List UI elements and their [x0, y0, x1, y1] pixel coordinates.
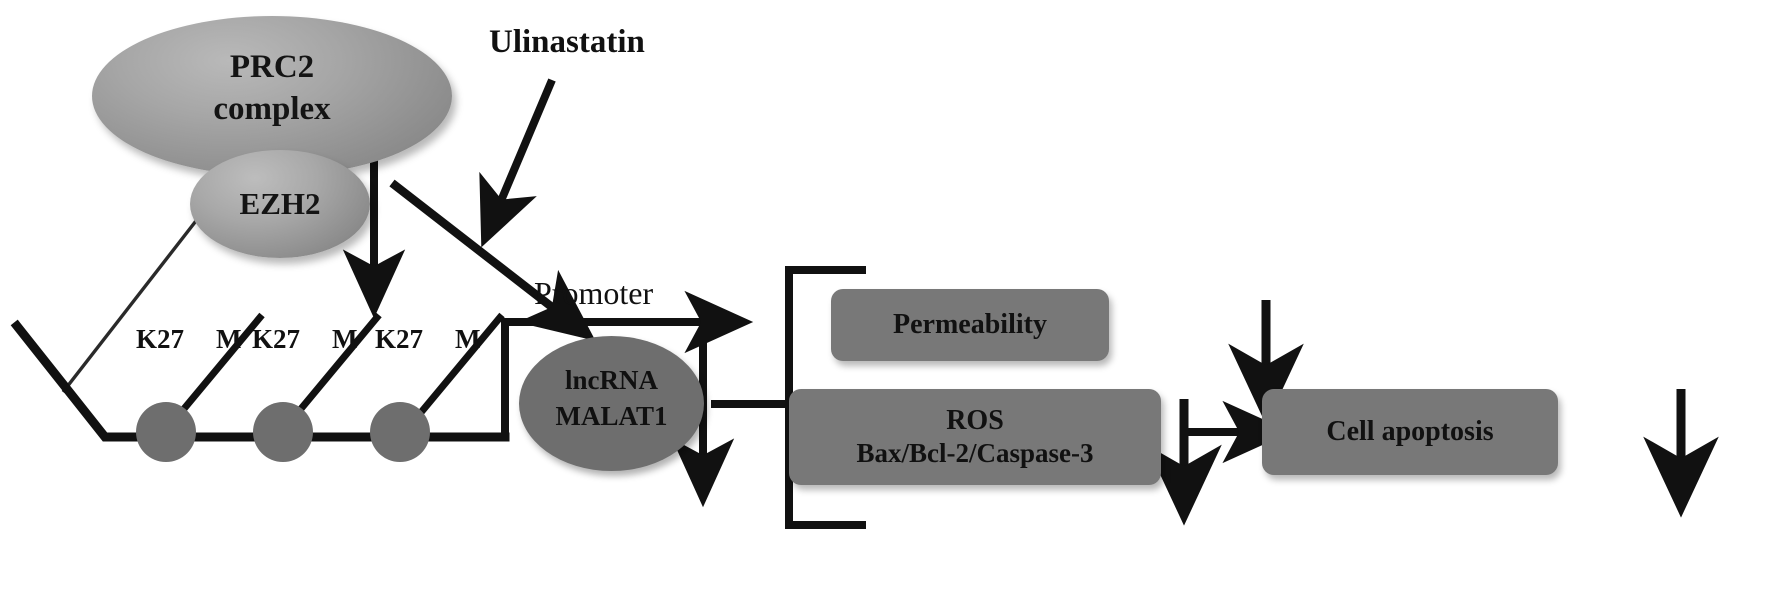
- nucleosome-3: [370, 402, 430, 462]
- node-ezh2: EZH2: [190, 150, 370, 258]
- ros-label-line2: Bax/Bcl-2/Caspase-3: [856, 437, 1093, 469]
- arrow-ulinastatin: [495, 80, 552, 215]
- label-promoter: Promoter: [534, 275, 653, 312]
- node-ros: ROS Bax/Bcl-2/Caspase-3: [789, 389, 1161, 485]
- histone-mark-methyl-1: M: [216, 324, 241, 355]
- ros-label-line1: ROS: [946, 405, 1004, 437]
- node-permeability: Permeability: [831, 289, 1109, 361]
- node-lncrna-malat1: lncRNA MALAT1: [519, 336, 704, 471]
- nucleosome-2: [253, 402, 313, 462]
- label-ulinastatin: Ulinastatin: [489, 24, 645, 61]
- nucleosome-1: [136, 402, 196, 462]
- permeability-label: Permeability: [893, 309, 1047, 341]
- edge-ezh2-to-dna: [63, 208, 206, 392]
- histone-mark-methyl-3: M: [455, 324, 480, 355]
- pathway-diagram: PRC2 complex EZH2 Ulinastatin K27 M K27 …: [0, 0, 1767, 592]
- prc2-label-line2: complex: [92, 90, 452, 128]
- node-cell-apoptosis: Cell apoptosis: [1262, 389, 1558, 475]
- histone-mark-methyl-2: M: [332, 324, 357, 355]
- prc2-label-line1: PRC2: [92, 48, 452, 86]
- apoptosis-label: Cell apoptosis: [1326, 416, 1493, 448]
- malat1-label-line1: lncRNA: [519, 364, 704, 396]
- malat1-label-line2: MALAT1: [519, 400, 704, 432]
- histone-mark-site-1: K27: [136, 324, 184, 355]
- histone-mark-site-2: K27: [252, 324, 300, 355]
- ezh2-label: EZH2: [240, 186, 321, 222]
- histone-mark-site-3: K27: [375, 324, 423, 355]
